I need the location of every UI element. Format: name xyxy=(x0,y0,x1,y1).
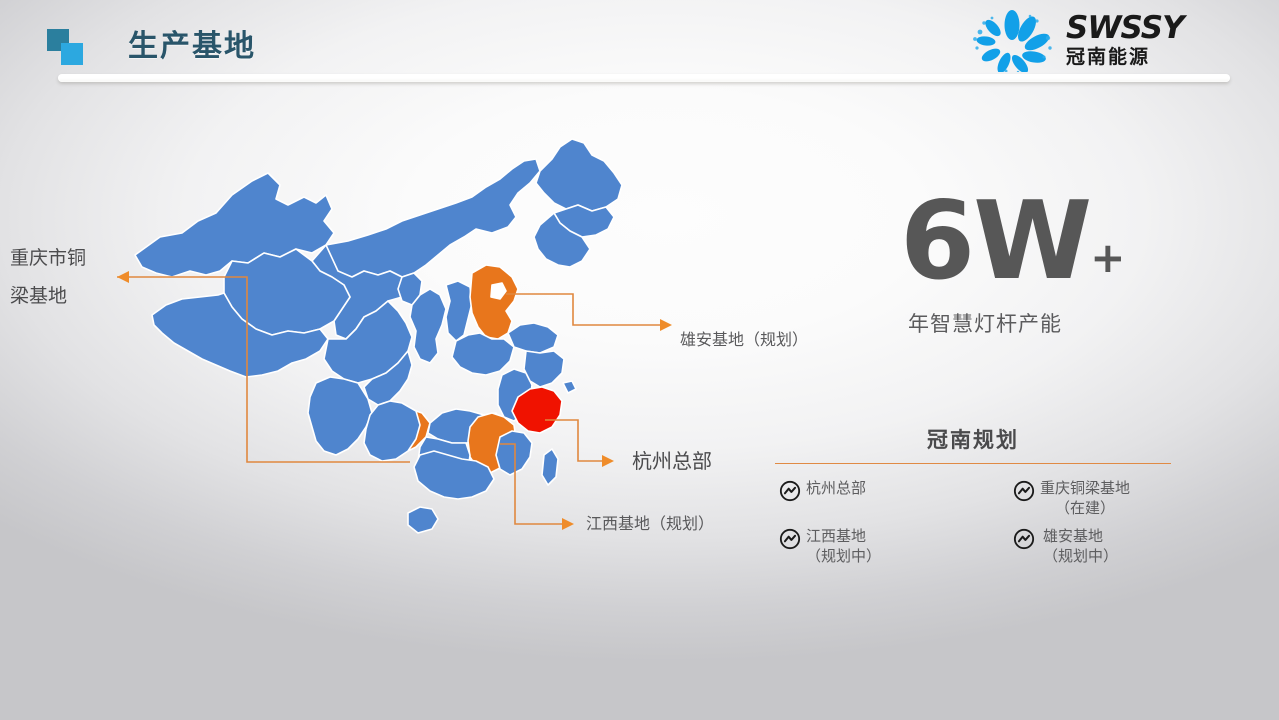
callout-chongqing: 重庆市铜 梁基地 xyxy=(10,239,86,315)
capacity-stat: 6W+ xyxy=(900,188,1125,312)
plan-item-hangzhou-label: 杭州总部 xyxy=(806,479,866,497)
plan-item-xiongan-text: 雄安基地 （规划中） xyxy=(1043,526,1118,566)
trend-circle-icon xyxy=(1013,528,1035,550)
connector-xiongan xyxy=(506,294,662,325)
callout-hangzhou: 杭州总部 xyxy=(632,446,712,476)
plan-item-xiongan-note: （规划中） xyxy=(1043,546,1118,566)
plan-section-title: 冠南规划 xyxy=(775,424,1171,454)
arrow-jiangxi xyxy=(562,518,574,530)
arrow-chongqing xyxy=(117,271,129,283)
connector-jiangxi xyxy=(500,444,564,524)
plan-item-jiangxi-text: 江西基地 （规划中） xyxy=(806,526,881,566)
plan-item-xiongan-label: 雄安基地 xyxy=(1043,527,1103,545)
callout-xiongan: 雄安基地（规划） xyxy=(680,325,808,355)
slide-root: 生产基地 S xyxy=(0,0,1279,720)
plan-item-jiangxi-label: 江西基地 xyxy=(806,527,866,545)
plan-item-hangzhou[interactable]: 杭州总部 xyxy=(779,478,866,502)
china-map-container xyxy=(120,125,680,555)
plan-item-chongqing-note: （在建） xyxy=(1040,498,1130,518)
capacity-suffix: + xyxy=(1090,233,1125,282)
arrow-xiongan xyxy=(660,319,672,331)
plan-item-xiongan[interactable]: 雄安基地 （规划中） xyxy=(1013,526,1118,566)
capacity-caption: 年智慧灯杆产能 xyxy=(908,308,1062,338)
plan-item-chongqing-text: 重庆铜梁基地 （在建） xyxy=(1040,478,1130,518)
plan-list: 杭州总部 重庆铜梁基地 （在建） 江西基地 （规划中） xyxy=(775,474,1175,584)
plan-item-chongqing[interactable]: 重庆铜梁基地 （在建） xyxy=(1013,478,1130,518)
plan-item-chongqing-label: 重庆铜梁基地 xyxy=(1040,479,1130,497)
callout-jiangxi: 江西基地（规划） xyxy=(586,509,714,539)
plan-item-hangzhou-text: 杭州总部 xyxy=(806,478,866,498)
arrow-hangzhou xyxy=(602,455,614,467)
trend-circle-icon xyxy=(1013,480,1035,502)
plan-item-jiangxi[interactable]: 江西基地 （规划中） xyxy=(779,526,881,566)
plan-item-jiangxi-note: （规划中） xyxy=(806,546,881,566)
plan-divider xyxy=(775,463,1171,464)
callout-chongqing-line1: 重庆市铜 xyxy=(10,239,86,277)
trend-circle-icon xyxy=(779,528,801,550)
connector-hangzhou xyxy=(545,420,604,461)
trend-circle-icon xyxy=(779,480,801,502)
map-connectors xyxy=(0,0,1279,720)
capacity-value: 6W xyxy=(900,179,1090,304)
connector-chongqing xyxy=(117,277,410,462)
callout-chongqing-line2: 梁基地 xyxy=(10,277,86,315)
